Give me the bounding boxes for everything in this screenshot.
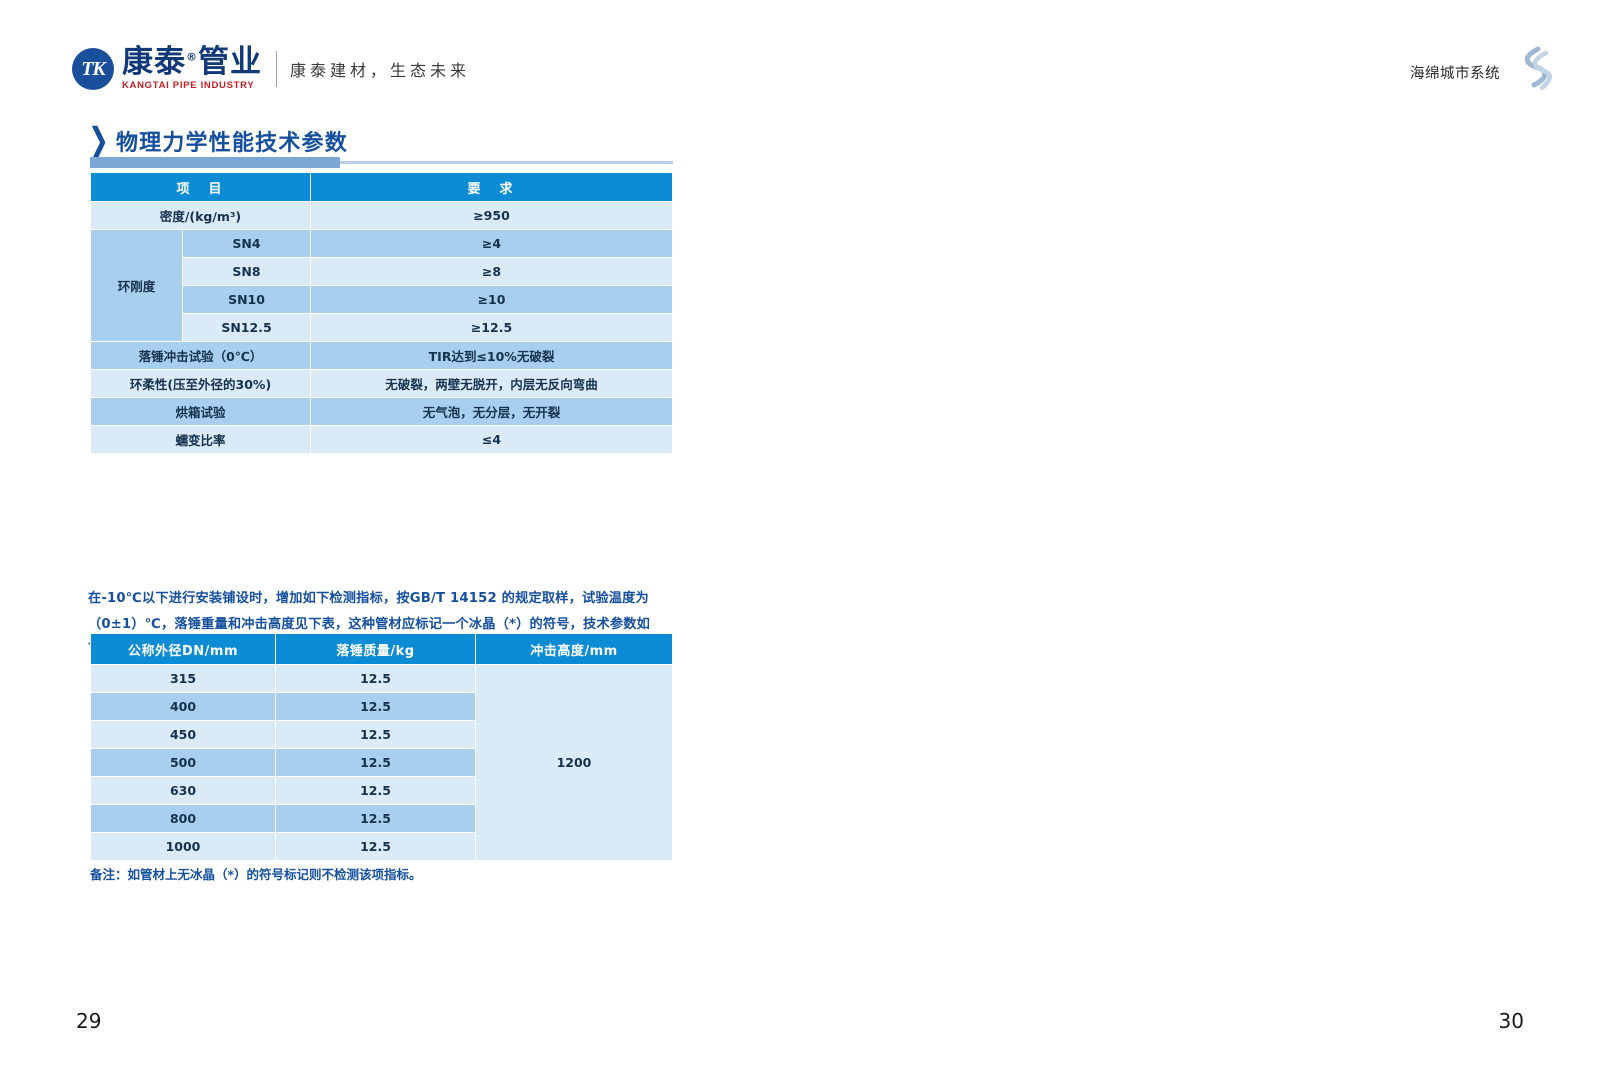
cell-mass: 12.5 (276, 833, 476, 861)
logo-mark-icon: TK (72, 48, 114, 90)
corner-label-right: 海绵城市系统 (1410, 62, 1500, 83)
cell-dn: 630 (91, 777, 276, 805)
cell-sn8-value: ≥8 (311, 258, 673, 286)
logo-text: 康泰®管业 KANGTAI PIPE INDUSTRY (122, 47, 262, 91)
cell-mass: 12.5 (276, 665, 476, 693)
section-title-left-label: 物理力学性能技术参数 (116, 125, 348, 157)
cell-density-value: ≥950 (311, 202, 673, 230)
physical-properties-table: 项 目 要 求 密度/(kg/m³) ≥950 环刚度 SN4 ≥4 SN8 ≥… (90, 172, 673, 454)
cell-dn: 315 (91, 665, 276, 693)
cell-sn125-label: SN12.5 (183, 314, 311, 342)
th-dn: 公称外径DN/mm (91, 634, 276, 665)
cell-sn10-value: ≥10 (311, 286, 673, 314)
cell-flexibility-label: 环柔性(压至外径的30%) (91, 370, 311, 398)
table-row: 环刚度 SN4 ≥4 (91, 230, 673, 258)
wave-mark-icon (1508, 46, 1552, 94)
left-page: TK 康泰®管业 KANGTAI PIPE INDUSTRY 康泰建材，生态未来… (0, 0, 800, 1085)
table-header-row: 项 目 要 求 (91, 173, 673, 202)
cell-dn: 1000 (91, 833, 276, 861)
cell-mass: 12.5 (276, 749, 476, 777)
logo-name-cn: 康泰®管业 (122, 47, 262, 78)
cell-impact-label: 落锤冲击试验（0℃） (91, 342, 311, 370)
table-row: 密度/(kg/m³) ≥950 (91, 202, 673, 230)
table-row: 落锤冲击试验（0℃） TIR达到≤10%无破裂 (91, 342, 673, 370)
cell-sn125-value: ≥12.5 (311, 314, 673, 342)
cell-sn4-label: SN4 (183, 230, 311, 258)
cell-mass: 12.5 (276, 693, 476, 721)
cell-sn4-value: ≥4 (311, 230, 673, 258)
cell-flexibility-value: 无破裂，两壁无脱开，内层无反向弯曲 (311, 370, 673, 398)
cell-mass: 12.5 (276, 721, 476, 749)
cell-density-label: 密度/(kg/m³) (91, 202, 311, 230)
th-requirement: 要 求 (311, 173, 673, 202)
brand-logo: TK 康泰®管业 KANGTAI PIPE INDUSTRY 康泰建材，生态未来 (72, 47, 470, 91)
th-impact-height: 冲击高度/mm (476, 634, 673, 665)
section-title-left: ❯ 物理力学性能技术参数 (88, 125, 348, 157)
cell-creep-label: 蠕变比率 (91, 426, 311, 454)
title-underline-left (90, 157, 673, 168)
th-hammer-mass: 落锤质量/kg (276, 634, 476, 665)
cell-dn: 400 (91, 693, 276, 721)
table-header-row: 公称外径DN/mm 落锤质量/kg 冲击高度/mm (91, 634, 673, 665)
right-page: 海绵城市系统 ❯ 管道安装 (800, 0, 1600, 1085)
cell-dn: 800 (91, 805, 276, 833)
drop-hammer-table: 公称外径DN/mm 落锤质量/kg 冲击高度/mm 315 12.5 1200 … (90, 633, 673, 861)
th-item: 项 目 (91, 173, 311, 202)
table-row: 蠕变比率 ≤4 (91, 426, 673, 454)
page-number-right: 30 (1499, 1009, 1524, 1033)
cell-sn10-label: SN10 (183, 286, 311, 314)
logo-slogan: 康泰建材，生态未来 (290, 57, 470, 81)
cell-impact-value: TIR达到≤10%无破裂 (311, 342, 673, 370)
cell-sn8-label: SN8 (183, 258, 311, 286)
cell-oven-label: 烘箱试验 (91, 398, 311, 426)
page-number-left: 29 (76, 1009, 101, 1033)
cell-mass: 12.5 (276, 777, 476, 805)
logo-divider (276, 51, 277, 87)
cell-dn: 500 (91, 749, 276, 777)
table-note: 备注：如管材上无冰晶（*）的符号标记则不检测该项指标。 (90, 864, 690, 883)
cell-dn: 450 (91, 721, 276, 749)
cell-mass: 12.5 (276, 805, 476, 833)
table-row: 315 12.5 1200 (91, 665, 673, 693)
page-spread: TK 康泰®管业 KANGTAI PIPE INDUSTRY 康泰建材，生态未来… (0, 0, 1600, 1085)
table-row: 环柔性(压至外径的30%) 无破裂，两壁无脱开，内层无反向弯曲 (91, 370, 673, 398)
table-row: 烘箱试验 无气泡，无分层，无开裂 (91, 398, 673, 426)
logo-name-en: KANGTAI PIPE INDUSTRY (122, 80, 262, 91)
cell-impact-height: 1200 (476, 665, 673, 861)
cell-oven-value: 无气泡，无分层，无开裂 (311, 398, 673, 426)
cell-ring-stiffness-group: 环刚度 (91, 230, 183, 342)
cell-creep-value: ≤4 (311, 426, 673, 454)
chevron-right-icon: ❯ (88, 124, 109, 158)
